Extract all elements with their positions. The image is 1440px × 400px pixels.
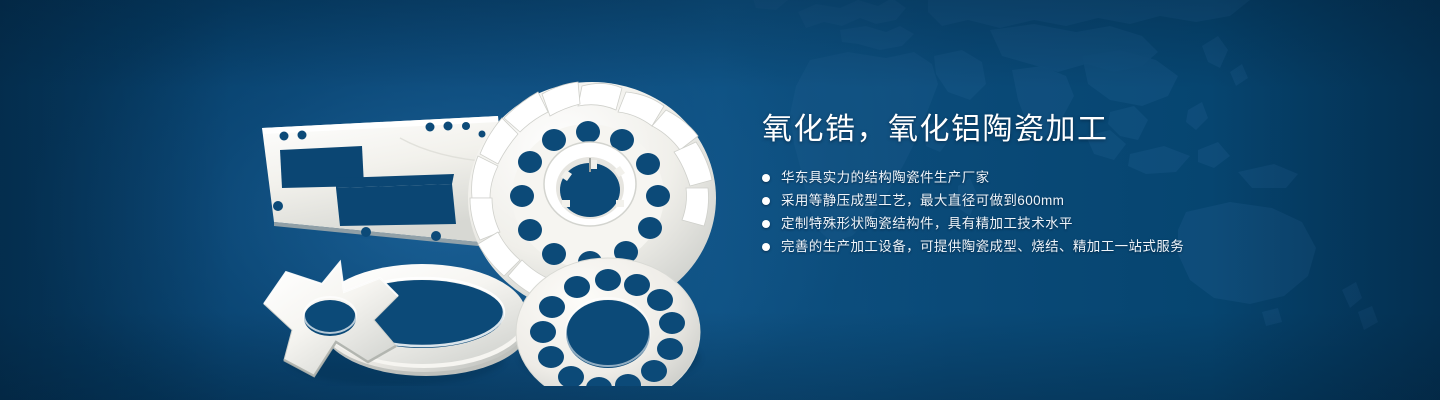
list-item-label: 华东具实力的结构陶瓷件生产厂家	[781, 166, 990, 189]
bullet-dot-icon	[762, 197, 770, 205]
list-item: 定制特殊形状陶瓷结构件，具有精加工技术水平	[762, 212, 1382, 235]
bullet-dot-icon	[762, 220, 770, 228]
feature-list: 华东具实力的结构陶瓷件生产厂家 采用等静压成型工艺，最大直径可做到600mm 定…	[762, 166, 1382, 258]
page-title: 氧化锆，氧化铝陶瓷加工	[762, 108, 1382, 152]
list-item: 华东具实力的结构陶瓷件生产厂家	[762, 166, 1382, 189]
list-item-label: 完善的生产加工设备，可提供陶瓷成型、烧结、精加工一站式服务	[781, 235, 1184, 258]
hero-banner: 氧化锆，氧化铝陶瓷加工 华东具实力的结构陶瓷件生产厂家 采用等静压成型工艺，最大…	[0, 0, 1440, 400]
hero-copy: 氧化锆，氧化铝陶瓷加工 华东具实力的结构陶瓷件生产厂家 采用等静压成型工艺，最大…	[762, 108, 1382, 258]
list-item-label: 采用等静压成型工艺，最大直径可做到600mm	[781, 189, 1064, 212]
bullet-dot-icon	[762, 174, 770, 182]
list-item: 采用等静压成型工艺，最大直径可做到600mm	[762, 189, 1382, 212]
list-item-label: 定制特殊形状陶瓷结构件，具有精加工技术水平	[781, 212, 1073, 235]
ceramic-products-photo	[240, 46, 720, 386]
bullet-dot-icon	[762, 243, 770, 251]
list-item: 完善的生产加工设备，可提供陶瓷成型、烧结、精加工一站式服务	[762, 235, 1382, 258]
